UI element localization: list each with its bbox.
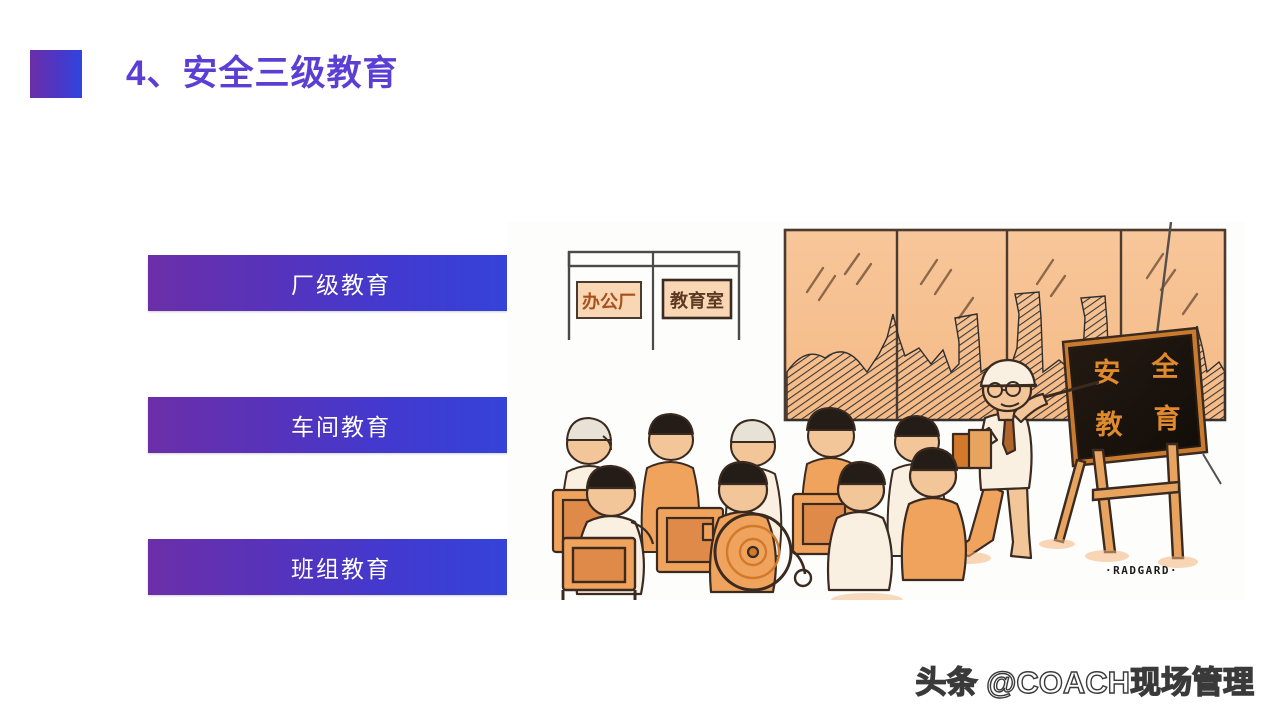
artist-signature: ·RADGARD· bbox=[1105, 564, 1178, 577]
level-bar-workshop[interactable]: 车间教育 bbox=[148, 397, 534, 453]
wall-sign-text-1: 办公厂 bbox=[582, 291, 636, 313]
level-bar-label: 厂级教育 bbox=[291, 266, 391, 300]
blackboard-char-2: 全 bbox=[1151, 351, 1180, 383]
education-levels-list: 厂级教育 车间教育 班组教育 bbox=[148, 0, 534, 720]
blackboard-char-4: 育 bbox=[1154, 403, 1181, 435]
cartoon-illustration-svg: 办公厂 教育室 bbox=[507, 222, 1245, 600]
level-bar-label: 班组教育 bbox=[291, 550, 391, 584]
safety-education-cartoon: 办公厂 教育室 bbox=[507, 222, 1245, 600]
level-bar-factory[interactable]: 厂级教育 bbox=[148, 255, 534, 311]
blackboard-char-1: 安 bbox=[1094, 358, 1121, 389]
wall-sign-text-2: 教育室 bbox=[670, 290, 724, 312]
blackboard-char-3: 教 bbox=[1096, 410, 1123, 441]
level-bar-label: 车间教育 bbox=[291, 408, 391, 442]
slide-root: 4、安全三级教育 厂级教育 车间教育 班组教育 bbox=[0, 0, 1280, 720]
header-marker-icon bbox=[30, 50, 82, 98]
watermark-text: 头条 @COACH现场管理 bbox=[915, 657, 1254, 702]
level-bar-team[interactable]: 班组教育 bbox=[148, 539, 534, 595]
